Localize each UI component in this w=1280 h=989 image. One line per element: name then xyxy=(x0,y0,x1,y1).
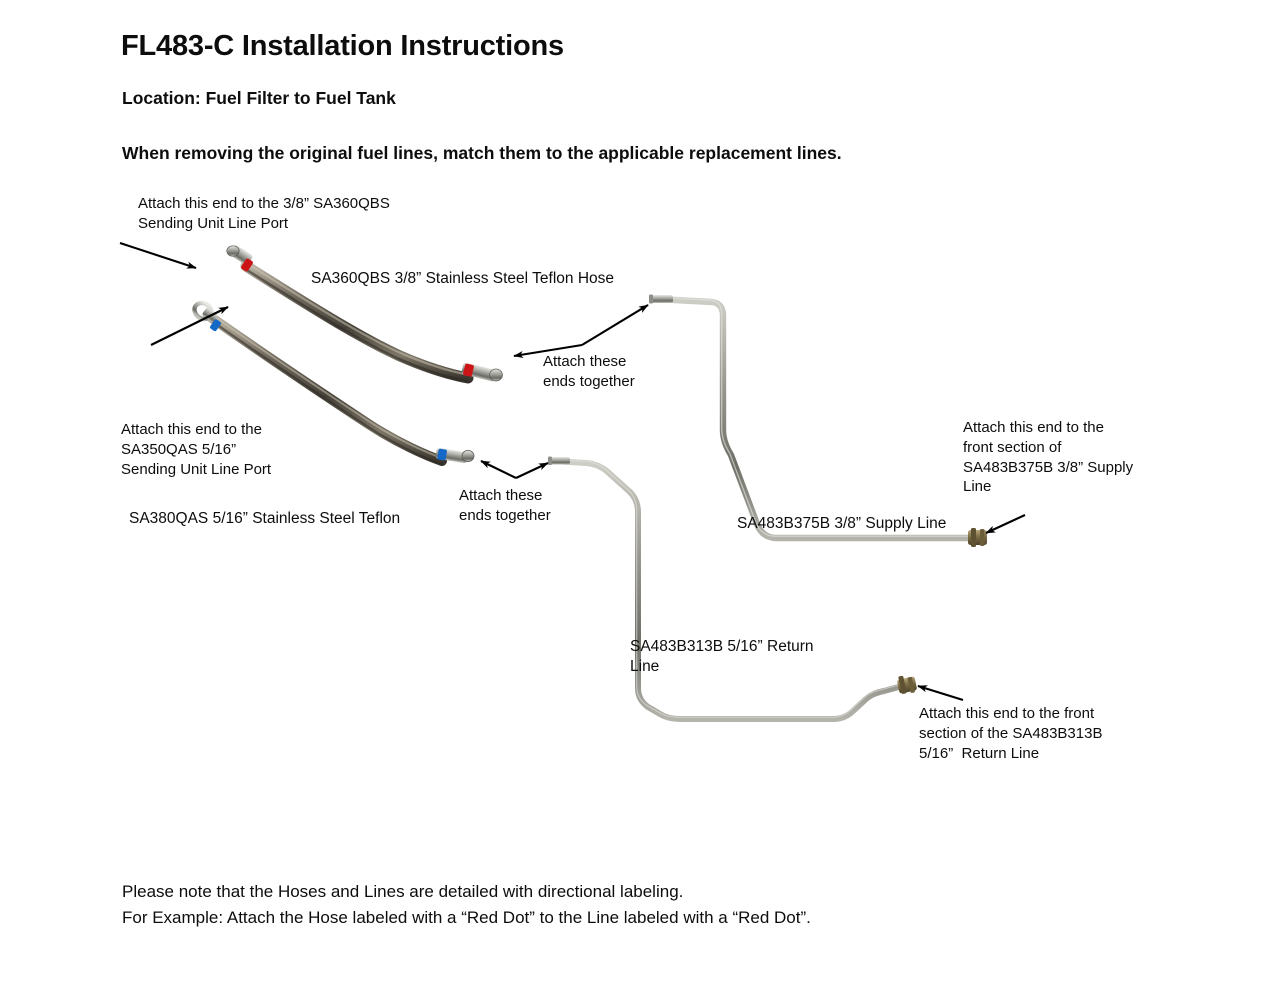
line-sa483b375b-brass-fitting xyxy=(968,528,987,547)
arrow-to-line-sa483b313b-end xyxy=(918,686,963,700)
page-title: FL483-C Installation Instructions xyxy=(121,27,564,65)
callout-hose-sa360qbs-end: Attach this end to the 3/8” SA360QBS Sen… xyxy=(138,194,390,234)
line-sa483b375b-flare-end xyxy=(649,295,673,304)
callout-line-sa483b375b-end: Attach this end to the front section of … xyxy=(963,418,1133,497)
part-label-hose-sa380qas: SA380QAS 5/16” Stainless Steel Teflon xyxy=(129,509,400,529)
arrow-attach-ends-upper xyxy=(514,305,648,356)
red-dot-marker-lower xyxy=(463,363,475,377)
blue-dot-marker-upper xyxy=(209,319,221,332)
hose-sa360qbs xyxy=(227,244,503,382)
line-sa483b313b-flare-end xyxy=(548,457,570,466)
arrow-attach-ends-lower xyxy=(481,461,548,478)
callout-hose-sa380qas-end: Attach this end to the SA350QAS 5/16” Se… xyxy=(121,420,271,479)
red-dot-marker-upper xyxy=(240,258,253,272)
hose-sa380qas-upper-fitting xyxy=(191,300,221,332)
part-label-line-sa483b313b: SA483B313B 5/16” Return Line xyxy=(630,637,814,678)
callout-attach-ends-upper: Attach these ends together xyxy=(543,352,635,392)
part-label-hose-sa360qbs: SA360QBS 3/8” Stainless Steel Teflon Hos… xyxy=(311,269,614,289)
hose-sa360qbs-lower-fitting xyxy=(461,362,502,382)
part-label-line-sa483b375b: SA483B375B 3/8” Supply Line xyxy=(737,514,946,534)
callout-line-sa483b313b-end: Attach this end to the front section of … xyxy=(919,704,1102,763)
line-sa483b375b xyxy=(649,295,987,548)
arrow-to-line-sa483b375b-end xyxy=(986,515,1025,533)
line-sa483b313b-brass-fitting xyxy=(897,676,918,695)
arrow-to-hose-sa380qas-end xyxy=(151,307,228,345)
blue-dot-marker-lower xyxy=(437,448,447,460)
instruction-sheet-page: FL483-C Installation Instructions Locati… xyxy=(0,0,1280,989)
footer-note: Please note that the Hoses and Lines are… xyxy=(122,879,811,930)
matching-instruction: When removing the original fuel lines, m… xyxy=(122,142,842,165)
arrow-to-hose-sa360qbs-end xyxy=(120,243,196,268)
callout-attach-ends-lower: Attach these ends together xyxy=(459,486,551,526)
line-sa483b313b xyxy=(548,457,917,720)
location-heading: Location: Fuel Filter to Fuel Tank xyxy=(122,87,396,110)
hose-sa380qas-lower-fitting xyxy=(435,448,474,464)
hose-sa360qbs-upper-fitting xyxy=(227,244,254,272)
